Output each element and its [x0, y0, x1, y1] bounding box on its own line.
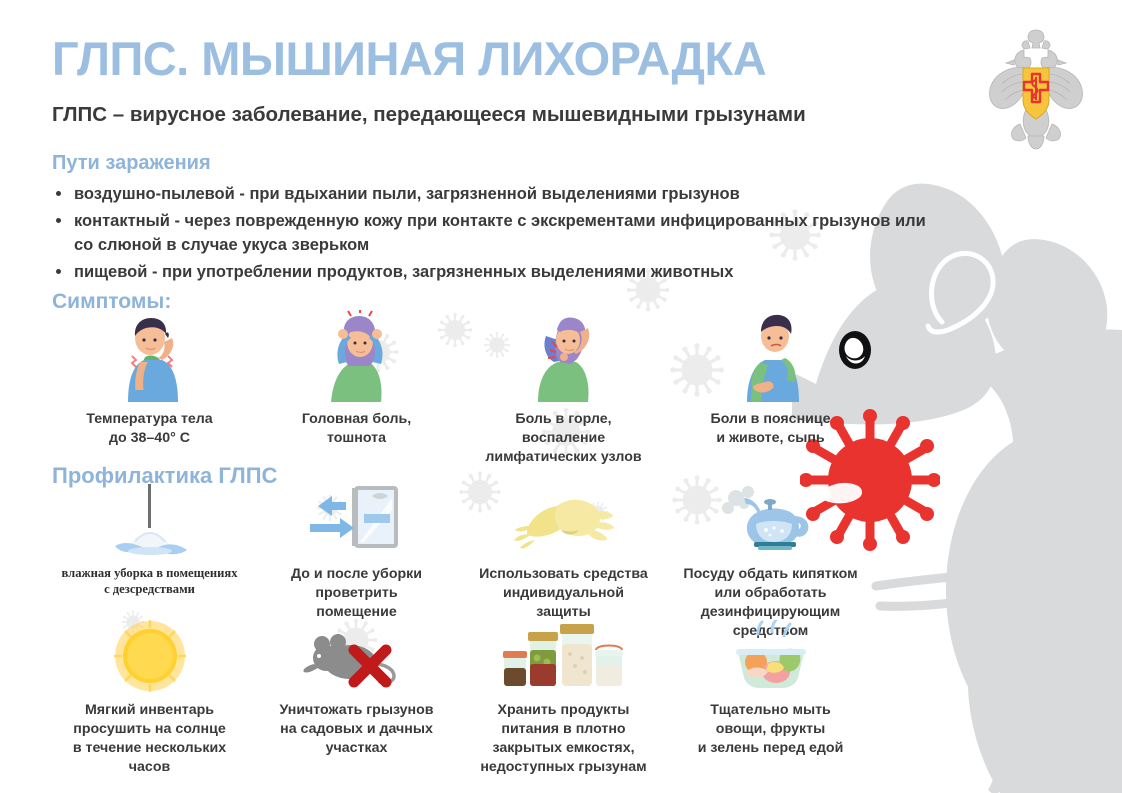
symptom-caption: Головная боль,тошнота — [302, 410, 411, 448]
prevention-item: Уничтожать грызуновна садовых и дачныхуч… — [253, 620, 460, 758]
woman-sore-throat-icon — [524, 310, 604, 402]
list-item: пищевой - при употреблении продуктов, за… — [52, 260, 932, 284]
page-title: ГЛПС. МЫШИНАЯ ЛИХОРАДКА — [52, 32, 806, 86]
routes-list: воздушно-пылевой - при вдыхании пыли, за… — [52, 182, 932, 287]
man-fever-icon — [110, 310, 190, 402]
prevention-grid-row1: влажная уборка в помещенияхс дезсредства… — [46, 484, 876, 641]
symptom-item: Боль в горле,воспалениелимфатических узл… — [460, 310, 667, 467]
symptom-caption: Боль в горле,воспалениелимфатических узл… — [485, 410, 641, 467]
prevention-grid-row2: Мягкий инвентарьпросушить на солнцев теч… — [46, 620, 876, 777]
washing-vegetables-icon — [716, 620, 826, 692]
symptom-caption: Боли в поясницеи животе, сыпь — [711, 410, 831, 448]
symptom-item: Температура теладо 38–40° С — [46, 310, 253, 467]
prevention-item: влажная уборка в помещенияхс дезсредства… — [46, 484, 253, 597]
sealed-jars-icon — [496, 620, 632, 692]
prevention-caption: влажная уборка в помещенияхс дезсредства… — [62, 565, 238, 597]
rospotrebnadzor-emblem — [984, 24, 1088, 154]
poster-header: ГЛПС. МЫШИНАЯ ЛИХОРАДКА ГЛПС – вирусное … — [52, 32, 806, 128]
infographic-poster: ГЛПС. МЫШИНАЯ ЛИХОРАДКА ГЛПС – вирусное … — [0, 0, 1122, 793]
man-abdominal-pain-icon — [731, 310, 811, 402]
prevention-item: Использовать средстваиндивидуальнойзащит… — [460, 484, 667, 622]
list-item: воздушно-пылевой - при вдыхании пыли, за… — [52, 182, 932, 206]
route-text: воздушно-пылевой - при вдыхании пыли, за… — [74, 185, 740, 203]
symptom-item: Боли в поясницеи животе, сыпь — [667, 310, 874, 467]
prevention-caption: Тщательно мытьовощи, фруктыи зелень пере… — [698, 701, 844, 758]
bullet-icon — [56, 218, 61, 223]
prevention-item: До и после уборкипроветритьпомещение — [253, 484, 460, 622]
symptom-item: Головная боль,тошнота — [253, 310, 460, 467]
prevention-caption: Хранить продуктыпитания в плотнозакрытых… — [480, 701, 646, 777]
woman-headache-icon — [317, 310, 397, 402]
bullet-icon — [56, 269, 61, 274]
route-text: контактный - через поврежденную кожу при… — [74, 212, 926, 254]
page-subtitle: ГЛПС – вирусное заболевание, передающеес… — [52, 102, 806, 128]
prevention-caption: До и после уборкипроветритьпомещение — [291, 565, 422, 622]
prevention-item: Посуду обдать кипяткомили обработатьдези… — [667, 484, 874, 641]
open-window-icon — [302, 484, 412, 556]
symptoms-grid: Температура теладо 38–40° С — [46, 310, 876, 467]
prevention-item: Мягкий инвентарьпросушить на солнцев теч… — [46, 620, 253, 777]
route-text: пищевой - при употреблении продуктов, за… — [74, 263, 733, 281]
bullet-icon — [56, 191, 61, 196]
kettle-icon — [716, 484, 826, 556]
prevention-caption: Уничтожать грызуновна садовых и дачныхуч… — [279, 701, 433, 758]
mop-icon — [95, 484, 205, 556]
prevention-caption: Использовать средстваиндивидуальнойзащит… — [479, 565, 648, 622]
prevention-caption: Мягкий инвентарьпросушить на солнцев теч… — [73, 701, 226, 777]
gloves-icon — [509, 484, 619, 556]
no-rodents-icon — [302, 620, 412, 692]
sun-icon — [95, 620, 205, 692]
symptom-caption: Температура теладо 38–40° С — [86, 410, 212, 448]
routes-heading: Пути заражения — [52, 152, 211, 175]
list-item: контактный - через поврежденную кожу при… — [52, 209, 932, 257]
prevention-item: Хранить продуктыпитания в плотнозакрытых… — [460, 620, 667, 777]
prevention-item: Тщательно мытьовощи, фруктыи зелень пере… — [667, 620, 874, 758]
